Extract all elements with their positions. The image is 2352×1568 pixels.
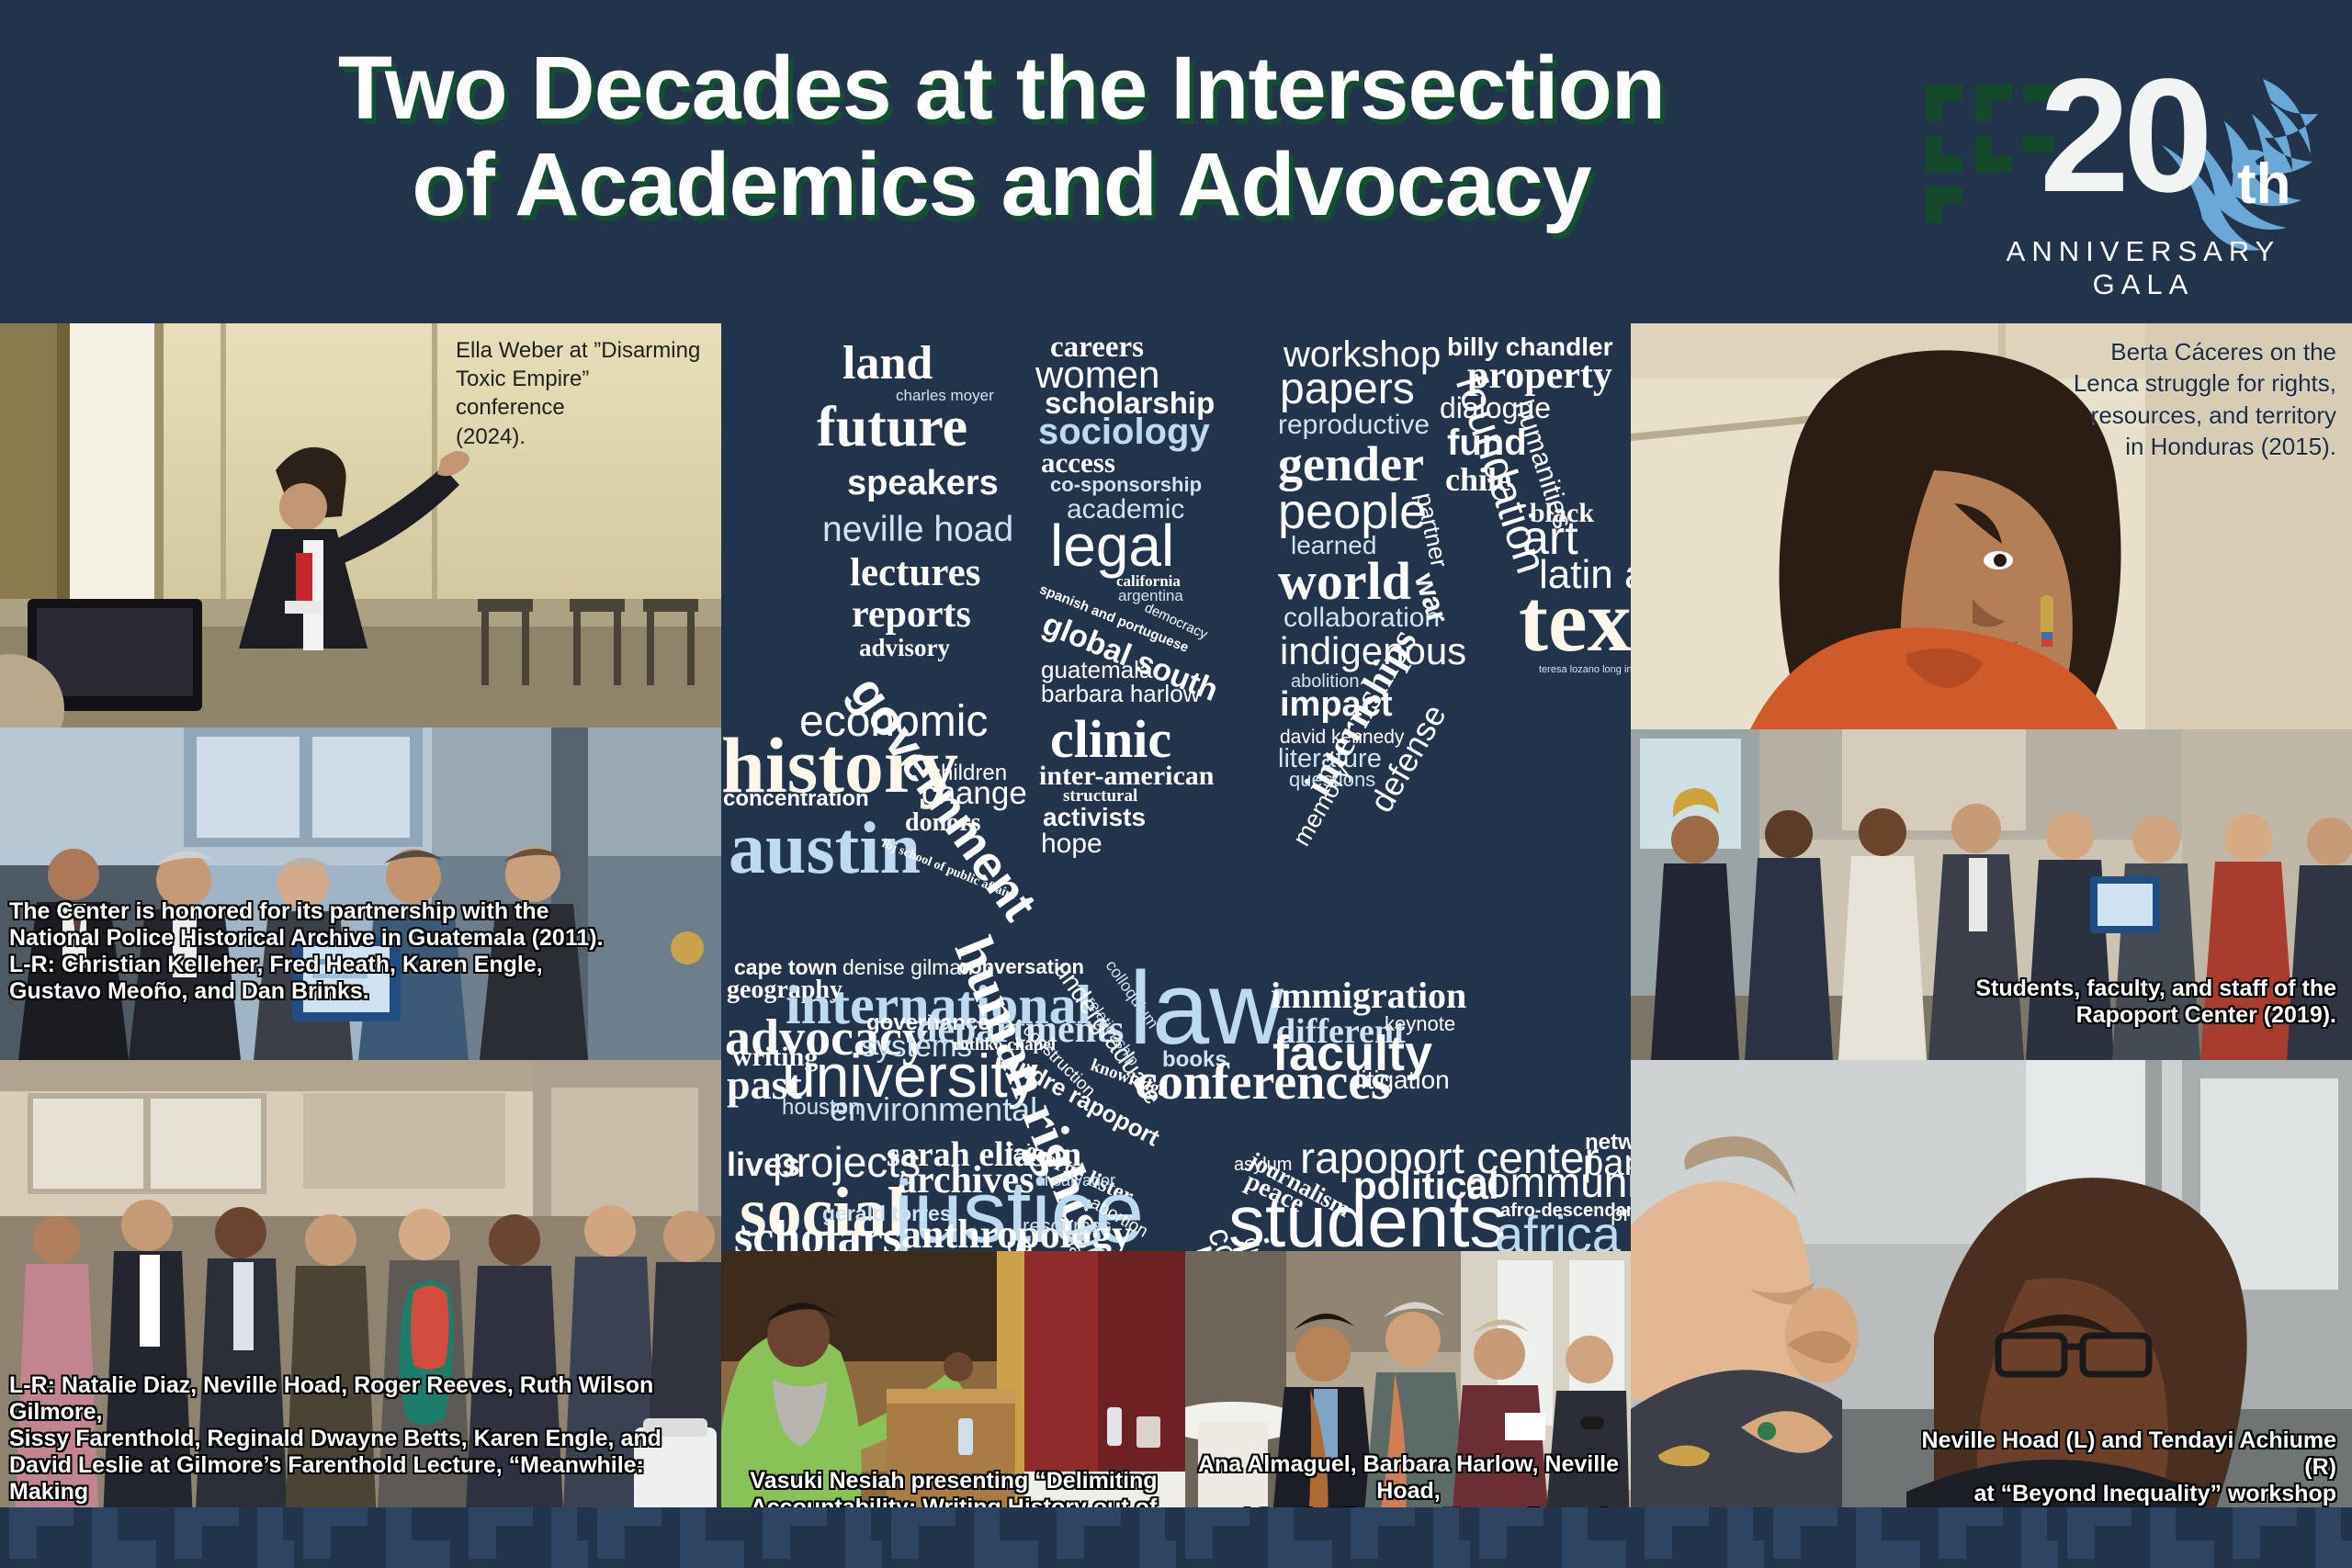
cloud-word: reproductive: [1278, 412, 1430, 439]
cloud-word: lectures: [850, 553, 980, 592]
cloud-word: guatemala: [1041, 658, 1152, 682]
cloud-word: future: [817, 399, 967, 456]
cloud-word: co-sponsorship: [1050, 475, 1202, 495]
cloud-word: neville hoad: [822, 512, 1013, 547]
cloud-word: prison: [1611, 1203, 1631, 1225]
geometric-pattern-icon: [0, 1507, 2352, 1568]
cloud-word: activists: [1043, 805, 1146, 830]
cloud-word: reports: [852, 595, 971, 634]
cloud-word: gender: [1278, 439, 1424, 489]
rapoport-staff-cell: Students, faculty, and staff of the Rapo…: [1631, 729, 2352, 1060]
beyond-inequality-cell: Neville Hoad (L) and Tendayi Achiume (R)…: [1631, 1060, 2352, 1568]
cloud-word: law: [1129, 957, 1283, 1060]
guatemala-partnership-photo: [0, 728, 721, 1060]
anniversary-gala-logo: 20 th ANNIVERSARY GALA: [1920, 55, 2315, 276]
cloud-word: people: [1278, 487, 1427, 536]
cloud-word: world: [1278, 555, 1411, 608]
logo-number: 20: [2040, 55, 2207, 217]
ella-weber-caption: Ella Weber at ”Disarming Toxic Empire” c…: [456, 336, 704, 451]
cloud-word: barbara harlow: [1041, 682, 1200, 705]
ella-weber-cell: Ella Weber at ”Disarming Toxic Empire” c…: [0, 323, 721, 728]
cloud-word: advisory: [859, 636, 950, 660]
cloud-word: collaboration: [1283, 604, 1440, 632]
cloud-word: legal: [1050, 516, 1174, 575]
cloud-word: speakers: [847, 466, 999, 501]
cloud-word: clinic: [1050, 713, 1171, 766]
page-title: Two Decades at the Intersection of Acade…: [0, 40, 2003, 233]
bottom-pattern-strip: [0, 1507, 2352, 1568]
cloud-word: land: [842, 340, 933, 388]
cloud-word: texas: [1519, 577, 1631, 665]
cloud-word: change: [922, 777, 1027, 809]
rapoport-staff-caption: Students, faculty, and staff of the Rapo…: [1888, 976, 2336, 1029]
cloud-word: immigration: [1271, 977, 1466, 1014]
cloud-word: sociology: [1038, 413, 1210, 450]
gilmore-lecture-cell: L-R: Natalie Diaz, Neville Hoad, Roger R…: [0, 1060, 721, 1568]
guatemala-partnership-caption: The Center is honored for its partnershi…: [9, 898, 689, 1005]
cloud-word: papers: [1280, 367, 1415, 412]
logo-subtitle: ANNIVERSARY GALA: [1964, 235, 2323, 301]
berta-caceres-cell: Berta Cáceres on the Lenca struggle for …: [1631, 323, 2352, 729]
cloud-word: litigation: [1355, 1067, 1450, 1093]
cloud-word: conferences: [1135, 1056, 1391, 1108]
guatemala-partnership-cell: The Center is honored for its partnershi…: [0, 728, 721, 1060]
logo-ordinal: th: [2237, 152, 2291, 217]
cloud-word: chile: [1445, 463, 1511, 496]
cloud-word: donors: [905, 810, 980, 836]
cloud-word: teresa lozano long institute of latin am…: [1539, 665, 1631, 675]
cloud-word: concentration: [723, 788, 869, 810]
cloud-word: hope: [1041, 830, 1102, 858]
photo-collage-grid: Ella Weber at ”Disarming Toxic Empire” c…: [0, 323, 2352, 1568]
berta-caceres-caption: Berta Cáceres on the Lenca struggle for …: [1925, 336, 2336, 462]
poster-header: Two Decades at the Intersection of Acade…: [0, 0, 2352, 323]
cloud-word: partner: [1413, 491, 1453, 570]
